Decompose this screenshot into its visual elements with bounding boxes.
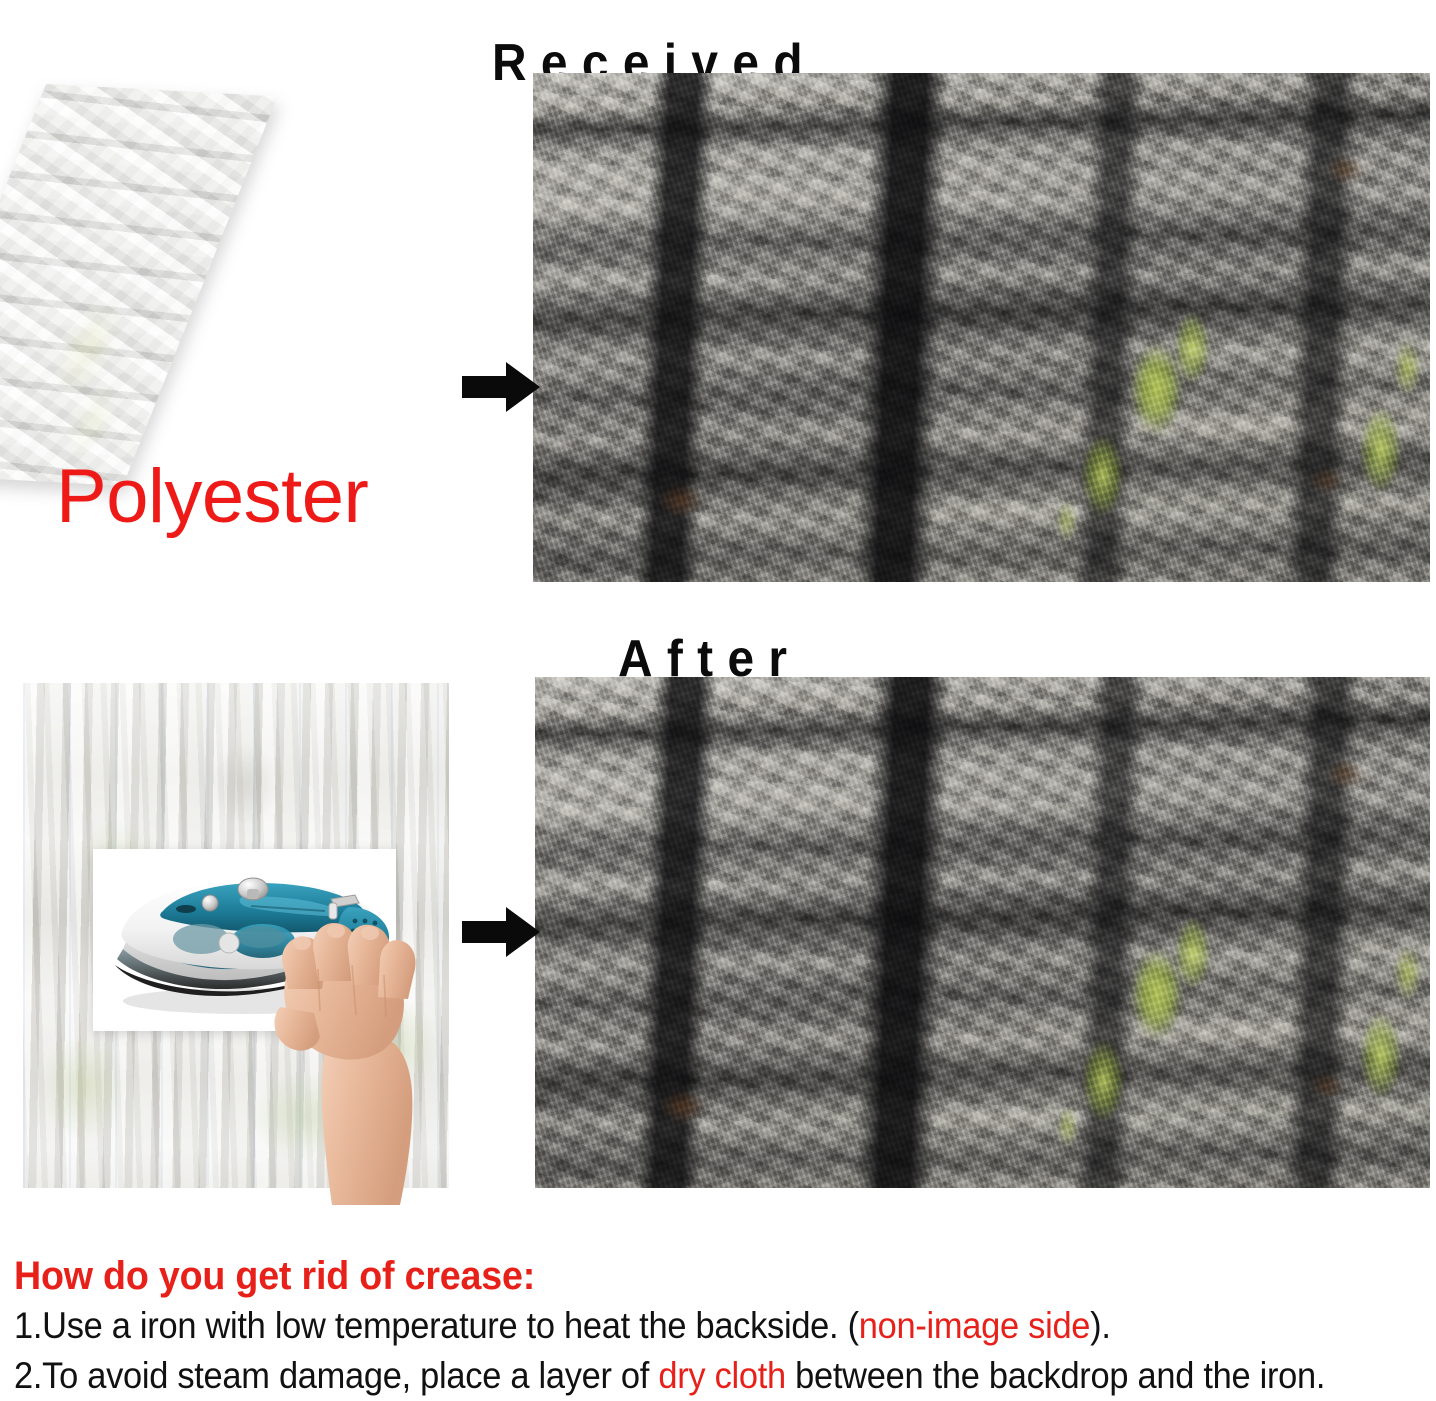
instruction-line-1-highlight: non-image side [859,1305,1090,1346]
fabric-sheet-body [0,84,277,486]
instructions-block: How do you get rid of crease: 1.Use a ir… [14,1254,1426,1399]
folded-polyester-sheet [18,78,418,478]
steam-iron-photo [93,849,396,1031]
instruction-line-1-part1: 1.Use a iron with low temperature to hea… [14,1305,859,1346]
instruction-line-2-part2: between the backdrop and the iron. [786,1355,1325,1396]
polyester-material-label: Polyester [56,459,368,535]
steam-iron-icon [93,849,396,1031]
instructions-heading: How do you get rid of crease: [14,1254,1341,1299]
received-rock-backdrop-photo [533,73,1430,582]
right-arrow-icon [462,360,540,414]
right-arrow-icon [462,905,540,959]
instruction-line-1-part2: ). [1090,1305,1110,1346]
instruction-line-1: 1.Use a iron with low temperature to hea… [14,1303,1327,1349]
instruction-line-2-part1: 2.To avoid steam damage, place a layer o… [14,1355,658,1396]
instruction-line-2: 2.To avoid steam damage, place a layer o… [14,1353,1327,1399]
instruction-line-2-highlight: dry cloth [658,1355,786,1396]
after-rock-backdrop-photo [535,677,1430,1188]
